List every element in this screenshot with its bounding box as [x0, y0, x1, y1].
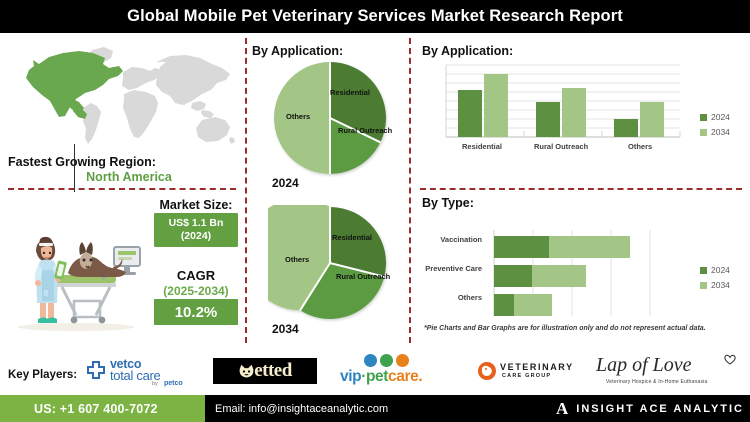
bar-chart-by-type: [486, 228, 682, 318]
pie-2034-year: 2034: [272, 322, 299, 336]
legend-item-type-2024: 2024: [700, 265, 730, 275]
lol-line2: Veterinary Hospice & In-Home Euthanasia: [606, 379, 707, 385]
vetco-line3: by: [152, 381, 158, 387]
veterinary-care-group-logo: VETERINARY CARE GROUP: [478, 360, 598, 384]
world-map: [6, 40, 238, 155]
footer-bar: US: +1 607 400-7072 Email: info@insighta…: [0, 395, 750, 422]
footer-brand-name: INSIGHT ACE ANALYTIC: [576, 403, 744, 415]
market-size-year: (2024): [181, 230, 211, 243]
medical-cross-icon: [86, 361, 106, 381]
vip-petcare-dots: [364, 354, 409, 367]
right-heading-type: By Type:: [422, 196, 474, 210]
vip-text: vip: [340, 368, 361, 385]
chart-footnote: *Pie Charts and Bar Graphs are for illus…: [424, 325, 744, 332]
bartype-ylabel-others: Others: [422, 293, 482, 302]
cagr-years: (2025-2034): [148, 284, 244, 298]
legend-swatch-2034: [700, 129, 707, 136]
pie-2034-label-others: Others: [285, 255, 309, 264]
legend-by-type: 2024 2034: [700, 265, 730, 295]
dog-circle-icon: [478, 362, 496, 380]
cagr-box: 10.2%: [154, 299, 238, 325]
pie-chart-2034: [268, 205, 394, 323]
vetted-logo: etted: [213, 358, 317, 384]
market-size-box: US$ 1.1 Bn (2024): [154, 213, 238, 247]
key-players-label: Key Players:: [8, 369, 77, 381]
divider-left-horizontal: [8, 188, 236, 190]
pet-text: pet: [366, 368, 388, 385]
legend-item-2034: 2034: [700, 127, 730, 137]
legend-label-2034: 2034: [711, 127, 730, 137]
veterinarian-illustration: [6, 215, 146, 337]
divider-middle-right: [409, 38, 411, 343]
legend-swatch-2024: [700, 114, 707, 121]
heart-icon: [724, 354, 736, 365]
divider-left-middle: [245, 38, 247, 343]
vip-petcare-logo: vip·petcare.: [340, 354, 456, 390]
fastest-growing-region-value: North America: [8, 170, 236, 184]
pie-2024-rural-text: Rural Outreach: [338, 126, 392, 135]
pie-2024-label-others: Others: [286, 112, 310, 121]
paw-dot-blue-icon: [364, 354, 377, 367]
bartype-ylabel-vaccination: Vaccination: [422, 235, 482, 244]
fastest-growing-region-label: Fastest Growing Region:: [8, 155, 236, 169]
pie-2034-rural-text: Rural Outreach: [336, 272, 390, 281]
pie-2024-label-rural-outreach: Rural Outreach: [338, 126, 392, 135]
footer-brand: A INSIGHT ACE ANALYTIC: [556, 395, 744, 422]
lol-line1: Lap of Love: [596, 354, 692, 377]
cagr-value: 10.2%: [175, 304, 218, 321]
vetted-text: etted: [254, 360, 292, 382]
care-text: care.: [388, 368, 422, 385]
cat-face-icon: [238, 363, 255, 380]
right-heading-application: By Application:: [422, 44, 513, 58]
legend-item-type-2034: 2034: [700, 280, 730, 290]
legend-item-2024: 2024: [700, 112, 730, 122]
pie-2034-label-residential: Residential: [332, 233, 372, 242]
bartype-ylabel-preventive-care: Preventive Care: [412, 264, 482, 273]
bar-xlabel-rural-outreach: Rural Outreach: [534, 142, 588, 151]
pie-2034-label-rural-outreach: Rural Outreach: [336, 272, 390, 281]
footer-phone-block: US: +1 607 400-7072: [0, 395, 205, 422]
divider-right-horizontal: [420, 188, 742, 190]
pie-2024-year: 2024: [272, 176, 299, 190]
footer-phone[interactable]: US: +1 607 400-7072: [0, 402, 158, 416]
infographic-page: Global Mobile Pet Veterinary Services Ma…: [0, 0, 750, 422]
footer-email[interactable]: Email: info@insightaceanalytic.com: [215, 395, 388, 422]
market-size-label: Market Size:: [150, 198, 242, 212]
vip-petcare-text: vip·petcare.: [340, 368, 422, 386]
cagr-label: CAGR: [150, 268, 242, 283]
market-size-value: US$ 1.1 Bn: [169, 217, 224, 230]
legend-swatch-type-2034: [700, 282, 707, 289]
paw-dot-green-icon: [380, 354, 393, 367]
legend-swatch-type-2024: [700, 267, 707, 274]
legend-by-application: 2024 2034: [700, 112, 730, 142]
legend-label-2024: 2024: [711, 112, 730, 122]
vetco-total-care-logo: vetco total care by petco: [86, 355, 196, 389]
legend-label-type-2034: 2034: [711, 280, 730, 290]
pie-2024-label-residential: Residential: [330, 88, 370, 97]
legend-label-type-2024: 2024: [711, 265, 730, 275]
lap-of-love-logo: Lap of Love Veterinary Hospice & In-Home…: [596, 354, 746, 390]
title-bar: Global Mobile Pet Veterinary Services Ma…: [0, 0, 750, 33]
vcg-line2: CARE GROUP: [502, 373, 551, 379]
vetco-line4: petco: [164, 380, 183, 387]
middle-heading-application: By Application:: [252, 44, 343, 58]
bar-xlabel-others: Others: [628, 142, 652, 151]
page-title: Global Mobile Pet Veterinary Services Ma…: [127, 7, 623, 26]
bar-chart-by-application: [432, 62, 687, 140]
insight-ace-logo-icon: A: [556, 399, 568, 419]
vcg-line1: VETERINARY: [500, 362, 574, 372]
bar-xlabel-residential: Residential: [462, 142, 502, 151]
paw-dot-orange-icon: [396, 354, 409, 367]
